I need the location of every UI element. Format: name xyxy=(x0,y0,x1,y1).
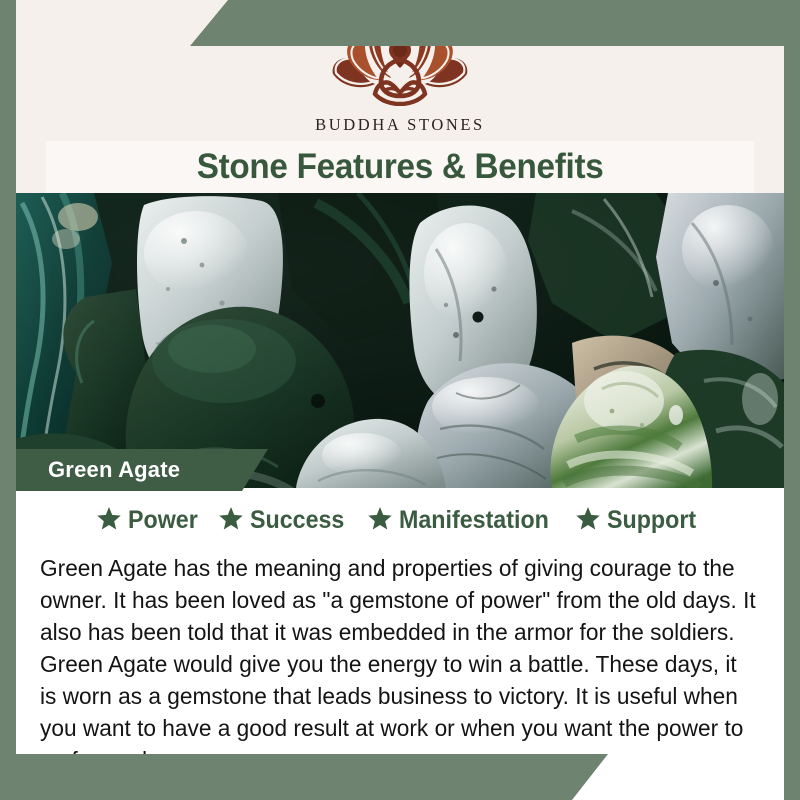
benefit-item-manifestation: Manifestation xyxy=(368,506,560,535)
page-title-band: Stone Features & Benefits xyxy=(46,141,754,193)
star-icon xyxy=(219,507,243,535)
star-icon xyxy=(97,507,121,535)
star-icon xyxy=(368,507,392,535)
benefit-item-power: Power xyxy=(97,506,203,535)
stone-description: Green Agate has the meaning and properti… xyxy=(40,552,758,776)
benefit-label: Manifestation xyxy=(399,506,549,535)
frame-left-band xyxy=(0,0,16,800)
card-canvas: BUDDHA STONES Stone Features & Benefits xyxy=(16,0,784,800)
stone-name: Green Agate xyxy=(16,457,180,483)
benefits-row: Power Success Manifestation xyxy=(32,506,768,535)
benefit-label: Support xyxy=(607,506,696,535)
benefit-item-success: Success xyxy=(219,506,351,535)
frame-right-band xyxy=(784,0,800,800)
stone-name-banner: Green Agate xyxy=(16,449,268,491)
green-agate-tumbled-stones-photo xyxy=(16,193,784,488)
benefit-label: Power xyxy=(128,506,198,535)
benefit-label: Success xyxy=(250,506,344,535)
brand-wordmark: BUDDHA STONES xyxy=(16,115,784,135)
stone-infographic-card: BUDDHA STONES Stone Features & Benefits xyxy=(0,0,800,800)
page-title: Stone Features & Benefits xyxy=(197,147,604,187)
benefit-item-support: Support xyxy=(576,506,703,535)
star-icon xyxy=(576,507,600,535)
